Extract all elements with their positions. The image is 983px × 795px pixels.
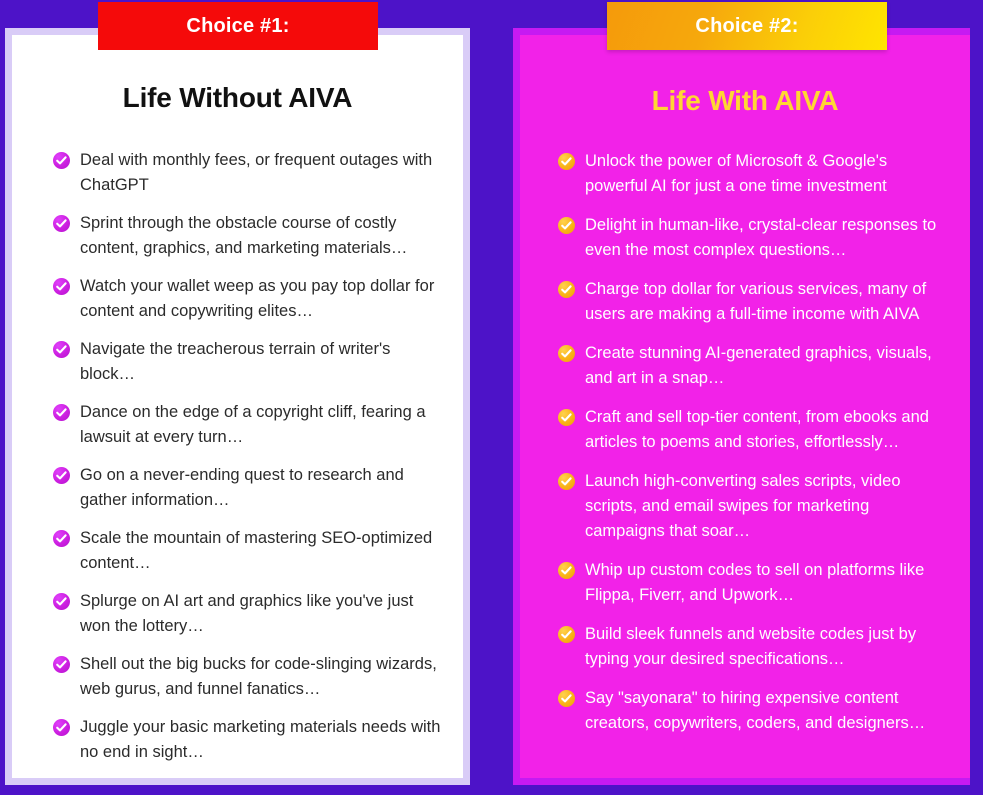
check-circle-icon (53, 341, 70, 358)
list-item: Deal with monthly fees, or frequent outa… (53, 148, 441, 198)
list-item: Watch your wallet weep as you pay top do… (53, 274, 441, 324)
check-circle-icon (558, 153, 575, 170)
list-item: Create stunning AI-generated graphics, v… (558, 341, 950, 391)
list-item-label: Deal with monthly fees, or frequent outa… (80, 148, 441, 198)
check-circle-icon (53, 404, 70, 421)
right-panel-bullet-list: Unlock the power of Microsoft & Google's… (558, 149, 950, 736)
list-item: Delight in human-like, crystal-clear res… (558, 213, 950, 263)
list-item-label: Delight in human-like, crystal-clear res… (585, 213, 950, 263)
list-item-label: Build sleek funnels and website codes ju… (585, 622, 950, 672)
check-circle-icon (558, 690, 575, 707)
list-item-label: Whip up custom codes to sell on platform… (585, 558, 950, 608)
check-circle-icon (558, 626, 575, 643)
check-circle-icon (558, 281, 575, 298)
list-item: Navigate the treacherous terrain of writ… (53, 337, 441, 387)
check-circle-icon (53, 152, 70, 169)
list-item-label: Charge top dollar for various services, … (585, 277, 950, 327)
check-circle-icon (53, 215, 70, 232)
list-item-label: Sprint through the obstacle course of co… (80, 211, 441, 261)
list-item: Go on a never-ending quest to research a… (53, 463, 441, 513)
choice-2-card: Life With AIVA Unlock the power of Micro… (513, 28, 970, 785)
choice-2-ribbon: Choice #2: (607, 2, 887, 50)
check-circle-icon (558, 562, 575, 579)
list-item-label: Unlock the power of Microsoft & Google's… (585, 149, 950, 199)
list-item-label: Juggle your basic marketing materials ne… (80, 715, 441, 765)
list-item: Dance on the edge of a copyright cliff, … (53, 400, 441, 450)
left-panel-bullet-list: Deal with monthly fees, or frequent outa… (53, 148, 441, 765)
list-item-label: Shell out the big bucks for code-slingin… (80, 652, 441, 702)
list-item: Charge top dollar for various services, … (558, 277, 950, 327)
list-item: Launch high-converting sales scripts, vi… (558, 469, 950, 544)
check-circle-icon (53, 593, 70, 610)
list-item-label: Craft and sell top-tier content, from eb… (585, 405, 950, 455)
list-item-label: Dance on the edge of a copyright cliff, … (80, 400, 441, 450)
list-item-label: Say "sayonara" to hiring expensive conte… (585, 686, 950, 736)
check-circle-icon (53, 719, 70, 736)
list-item: Juggle your basic marketing materials ne… (53, 715, 441, 765)
list-item: Whip up custom codes to sell on platform… (558, 558, 950, 608)
list-item: Build sleek funnels and website codes ju… (558, 622, 950, 672)
list-item-label: Create stunning AI-generated graphics, v… (585, 341, 950, 391)
list-item-label: Go on a never-ending quest to research a… (80, 463, 441, 513)
check-circle-icon (53, 530, 70, 547)
list-item-label: Launch high-converting sales scripts, vi… (585, 469, 950, 544)
list-item-label: Watch your wallet weep as you pay top do… (80, 274, 441, 324)
check-circle-icon (53, 467, 70, 484)
choice-1-card: Life Without AIVA Deal with monthly fees… (5, 28, 470, 785)
list-item: Splurge on AI art and graphics like you'… (53, 589, 441, 639)
list-item-label: Scale the mountain of mastering SEO-opti… (80, 526, 441, 576)
list-item: Sprint through the obstacle course of co… (53, 211, 441, 261)
choice-1-ribbon: Choice #1: (98, 2, 378, 50)
list-item: Say "sayonara" to hiring expensive conte… (558, 686, 950, 736)
list-item-label: Splurge on AI art and graphics like you'… (80, 589, 441, 639)
list-item: Unlock the power of Microsoft & Google's… (558, 149, 950, 199)
list-item-label: Navigate the treacherous terrain of writ… (80, 337, 441, 387)
check-circle-icon (558, 217, 575, 234)
check-circle-icon (53, 278, 70, 295)
list-item: Craft and sell top-tier content, from eb… (558, 405, 950, 455)
list-item: Shell out the big bucks for code-slingin… (53, 652, 441, 702)
check-circle-icon (53, 656, 70, 673)
check-circle-icon (558, 345, 575, 362)
list-item: Scale the mountain of mastering SEO-opti… (53, 526, 441, 576)
check-circle-icon (558, 473, 575, 490)
check-circle-icon (558, 409, 575, 426)
